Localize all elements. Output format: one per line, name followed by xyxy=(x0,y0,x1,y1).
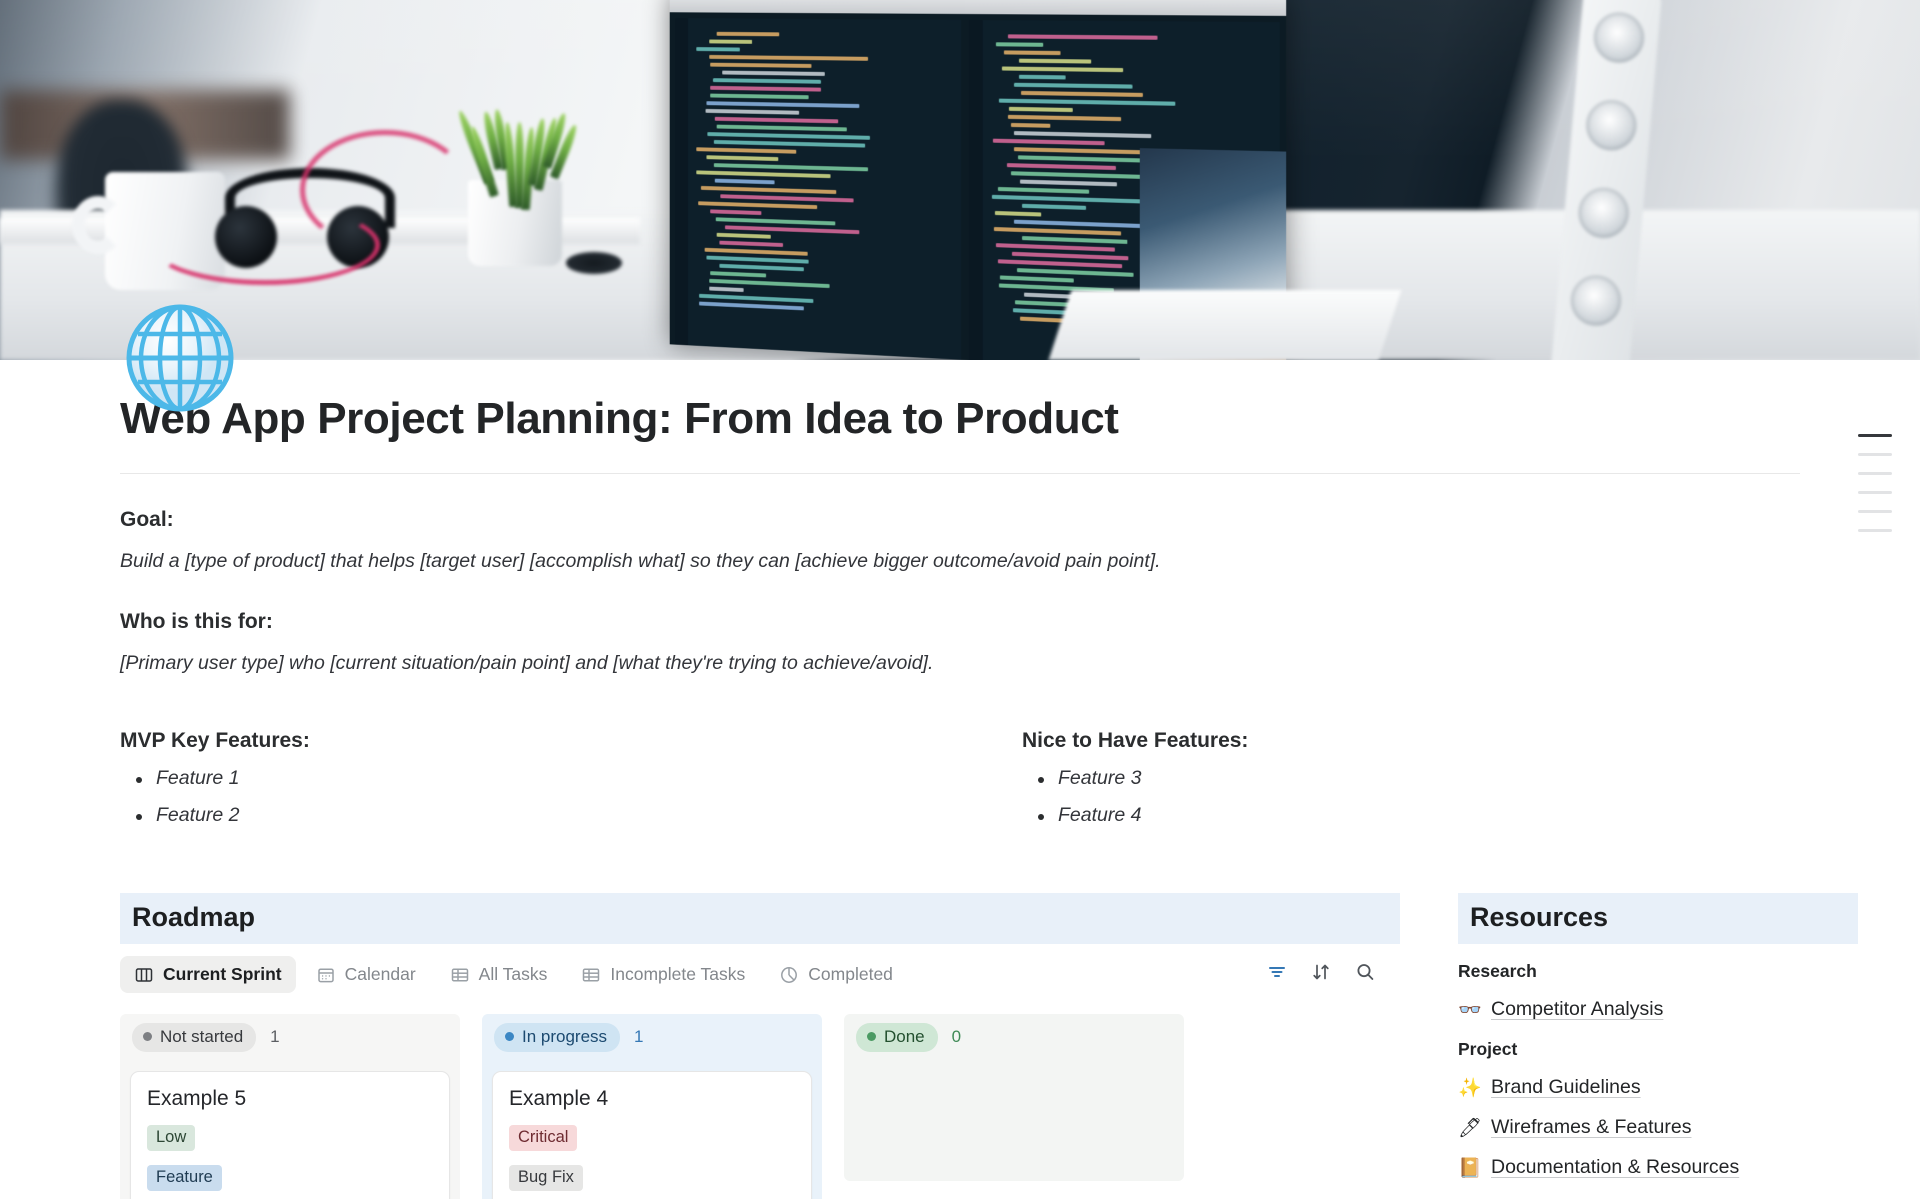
nice-to-have-feature-list: Feature 3Feature 4 xyxy=(1022,767,1800,827)
status-dot-icon xyxy=(143,1032,152,1041)
kanban-column-body: Example 4CriticalBug Fix xyxy=(482,1061,822,1199)
status-label: In progress xyxy=(522,1027,607,1047)
table-icon xyxy=(581,965,601,985)
tab-calendar[interactable]: Calendar xyxy=(302,956,430,993)
calendar-icon xyxy=(316,965,336,985)
tab-incomplete-tasks[interactable]: Incomplete Tasks xyxy=(567,956,759,993)
cover-mug-handle xyxy=(72,196,124,254)
status-label: Done xyxy=(884,1027,925,1047)
nice-to-have-feature-item: Feature 3 xyxy=(1022,767,1800,790)
notebook-icon: 📔 xyxy=(1458,1156,1482,1180)
outline-marker[interactable] xyxy=(1858,529,1892,532)
card-tag[interactable]: Feature xyxy=(147,1165,222,1191)
column-count: 1 xyxy=(270,1027,279,1047)
kanban-column-done: Done0 xyxy=(844,1014,1184,1199)
kanban-card[interactable]: Example 4CriticalBug Fix xyxy=(492,1071,812,1199)
status-badge[interactable]: Not started xyxy=(132,1023,256,1052)
tab-current-sprint[interactable]: Current Sprint xyxy=(120,956,296,993)
tab-all-tasks[interactable]: All Tasks xyxy=(436,956,562,993)
cover-desk-object xyxy=(566,252,622,274)
resources-database: Resources Research👓Competitor AnalysisPr… xyxy=(1458,893,1858,1199)
filter-icon[interactable] xyxy=(1266,961,1288,988)
status-badge[interactable]: Done xyxy=(856,1023,938,1052)
card-title: Example 4 xyxy=(509,1087,795,1111)
document-content: Web App Project Planning: From Idea to P… xyxy=(0,394,1920,1199)
kanban-card[interactable]: Example 5LowFeature xyxy=(130,1071,450,1199)
features-columns: MVP Key Features: Feature 1Feature 2 Nic… xyxy=(120,729,1920,827)
nice-to-have-heading: Nice to Have Features: xyxy=(1022,729,1800,753)
sparkles-icon: ✨ xyxy=(1458,1076,1482,1100)
mvp-column: MVP Key Features: Feature 1Feature 2 xyxy=(120,729,960,827)
resources-groups: Research👓Competitor AnalysisProject✨Bran… xyxy=(1458,961,1858,1180)
tab-label: Current Sprint xyxy=(163,964,282,985)
page-root: Web App Project Planning: From Idea to P… xyxy=(0,0,1920,1199)
resources-heading: Resources xyxy=(1458,893,1858,944)
resource-link-label: Documentation & Resources xyxy=(1491,1156,1739,1179)
cover-keyboard xyxy=(1049,290,1402,360)
mvp-feature-item: Feature 2 xyxy=(120,804,960,827)
board-icon xyxy=(134,965,154,985)
roadmap-heading: Roadmap xyxy=(120,893,1400,944)
resource-link-competitor-analysis[interactable]: 👓Competitor Analysis xyxy=(1458,998,1858,1022)
document-outline-indicator[interactable] xyxy=(1858,434,1892,532)
column-count: 1 xyxy=(634,1027,643,1047)
globe-logo xyxy=(120,298,240,418)
title-divider xyxy=(120,473,1800,474)
cover-image xyxy=(0,0,1920,360)
tab-label: Calendar xyxy=(345,964,416,985)
status-dot-icon xyxy=(505,1032,514,1041)
roadmap-toolbar xyxy=(1266,961,1400,988)
sort-icon[interactable] xyxy=(1310,961,1332,988)
status-label: Not started xyxy=(160,1027,243,1047)
kanban-column-body xyxy=(844,1061,1184,1181)
audience-body: [Primary user type] who [current situati… xyxy=(120,649,1920,677)
kanban-column-body: Example 5LowFeature xyxy=(120,1061,460,1199)
kanban-column-header: Not started1 xyxy=(120,1014,460,1061)
column-count: 0 xyxy=(952,1027,961,1047)
card-tag[interactable]: Critical xyxy=(509,1125,577,1151)
resource-group-label: Project xyxy=(1458,1039,1858,1060)
card-tag[interactable]: Low xyxy=(147,1125,195,1151)
resource-link-wireframes-features[interactable]: 🖊Wireframes & Features xyxy=(1458,1116,1858,1140)
resource-link-label: Competitor Analysis xyxy=(1491,998,1663,1021)
outline-marker[interactable] xyxy=(1858,434,1892,437)
kanban-column-header: Done0 xyxy=(844,1014,1184,1061)
goal-heading: Goal: xyxy=(120,508,1920,532)
resource-link-documentation-resources[interactable]: 📔Documentation & Resources xyxy=(1458,1156,1858,1180)
resource-link-label: Brand Guidelines xyxy=(1491,1076,1641,1099)
tab-completed[interactable]: Completed xyxy=(765,956,907,993)
glasses-icon: 👓 xyxy=(1458,998,1482,1022)
kanban-column-not-started: Not started1Example 5LowFeature xyxy=(120,1014,460,1199)
roadmap-database: Roadmap Current SprintCalendarAll TasksI… xyxy=(120,893,1400,1199)
cover-headphone-cable-2 xyxy=(300,130,470,250)
page-title: Web App Project Planning: From Idea to P… xyxy=(120,394,1920,443)
cover-monitor-menubar xyxy=(670,0,1286,16)
search-icon[interactable] xyxy=(1354,961,1376,988)
kanban-board: Not started1Example 5LowFeatureIn progre… xyxy=(120,1014,1400,1199)
nice-to-have-feature-item: Feature 4 xyxy=(1022,804,1800,827)
tab-label: Incomplete Tasks xyxy=(610,964,745,985)
status-dot-icon xyxy=(867,1032,876,1041)
card-title: Example 5 xyxy=(147,1087,433,1111)
goal-body: Build a [type of product] that helps [ta… xyxy=(120,547,1920,575)
roadmap-view-tabs: Current SprintCalendarAll TasksIncomplet… xyxy=(120,954,1400,996)
outline-marker[interactable] xyxy=(1858,491,1892,494)
audience-heading: Who is this for: xyxy=(120,610,1920,634)
mvp-heading: MVP Key Features: xyxy=(120,729,960,753)
mvp-feature-item: Feature 1 xyxy=(120,767,960,790)
resource-group-label: Research xyxy=(1458,961,1858,982)
pen-icon: 🖊 xyxy=(1458,1116,1482,1140)
outline-marker[interactable] xyxy=(1858,472,1892,475)
table-icon xyxy=(450,965,470,985)
pie-chart-icon xyxy=(779,965,799,985)
resource-link-brand-guidelines[interactable]: ✨Brand Guidelines xyxy=(1458,1076,1858,1100)
outline-marker[interactable] xyxy=(1858,510,1892,513)
tab-label: All Tasks xyxy=(479,964,548,985)
lower-section: Roadmap Current SprintCalendarAll TasksI… xyxy=(120,893,1920,1199)
cover-code-pane-html xyxy=(675,18,961,360)
resource-link-label: Wireframes & Features xyxy=(1491,1116,1691,1139)
kanban-column-in-progress: In progress1Example 4CriticalBug Fix xyxy=(482,1014,822,1199)
status-badge[interactable]: In progress xyxy=(494,1023,620,1052)
nice-to-have-column: Nice to Have Features: Feature 3Feature … xyxy=(960,729,1800,827)
card-tag[interactable]: Bug Fix xyxy=(509,1165,583,1191)
kanban-column-header: In progress1 xyxy=(482,1014,822,1061)
tab-label: Completed xyxy=(808,964,893,985)
outline-marker[interactable] xyxy=(1858,453,1892,456)
mvp-feature-list: Feature 1Feature 2 xyxy=(120,767,960,827)
